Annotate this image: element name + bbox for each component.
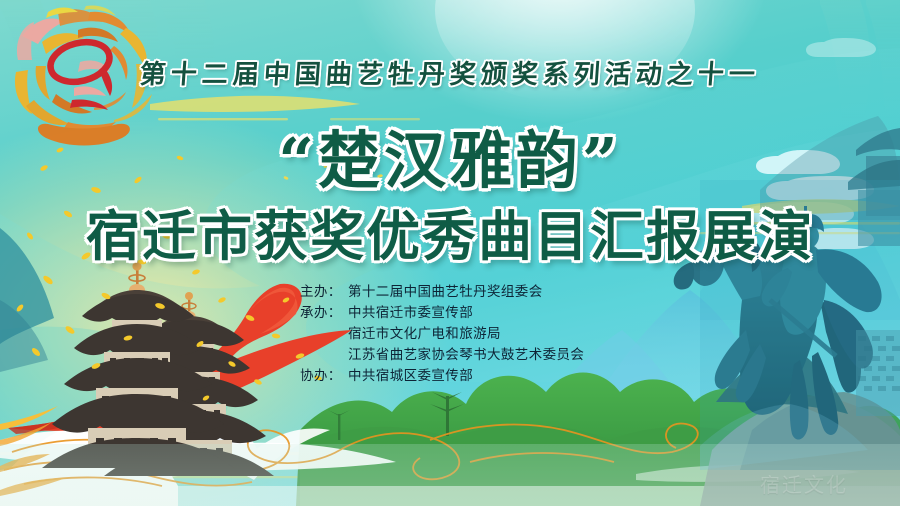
credit-value: 宿迁市文化广电和旅游局 xyxy=(348,324,501,345)
credit-value: 中共宿迁市委宣传部 xyxy=(348,303,473,324)
credit-label: 协办： xyxy=(300,366,348,387)
poster-canvas: 第十二届中国曲艺牡丹奖颁奖系列活动之十一 “楚汉雅韵” 宿迁市获奖优秀曲目汇报展… xyxy=(0,0,900,506)
page-title: “楚汉雅韵” xyxy=(0,110,900,200)
credit-value: 中共宿城区委宣传部 xyxy=(348,366,473,387)
credit-row: 承办：中共宿迁市委宣传部 xyxy=(300,303,584,324)
credits-block: 主办：第十二届中国曲艺牡丹奖组委会承办：中共宿迁市委宣传部主办：宿迁市文化广电和… xyxy=(300,282,584,387)
credit-value: 第十二届中国曲艺牡丹奖组委会 xyxy=(348,282,543,303)
credit-row: 协办：中共宿城区委宣传部 xyxy=(300,366,584,387)
credit-value: 江苏省曲艺家协会琴书大鼓艺术委员会 xyxy=(348,345,584,366)
watermark: 宿迁文化 xyxy=(760,469,848,498)
event-series-header: 第十二届中国曲艺牡丹奖颁奖系列活动之十一 xyxy=(0,54,900,91)
credit-row: 主办：第十二届中国曲艺牡丹奖组委会 xyxy=(300,282,584,303)
credit-row: 主办：江苏省曲艺家协会琴书大鼓艺术委员会 xyxy=(300,345,584,366)
credit-label: 承办： xyxy=(300,303,348,324)
credit-row: 主办：宿迁市文化广电和旅游局 xyxy=(300,324,584,345)
page-subtitle: 宿迁市获奖优秀曲目汇报展演 xyxy=(0,192,900,271)
credit-label: 主办： xyxy=(300,282,348,303)
